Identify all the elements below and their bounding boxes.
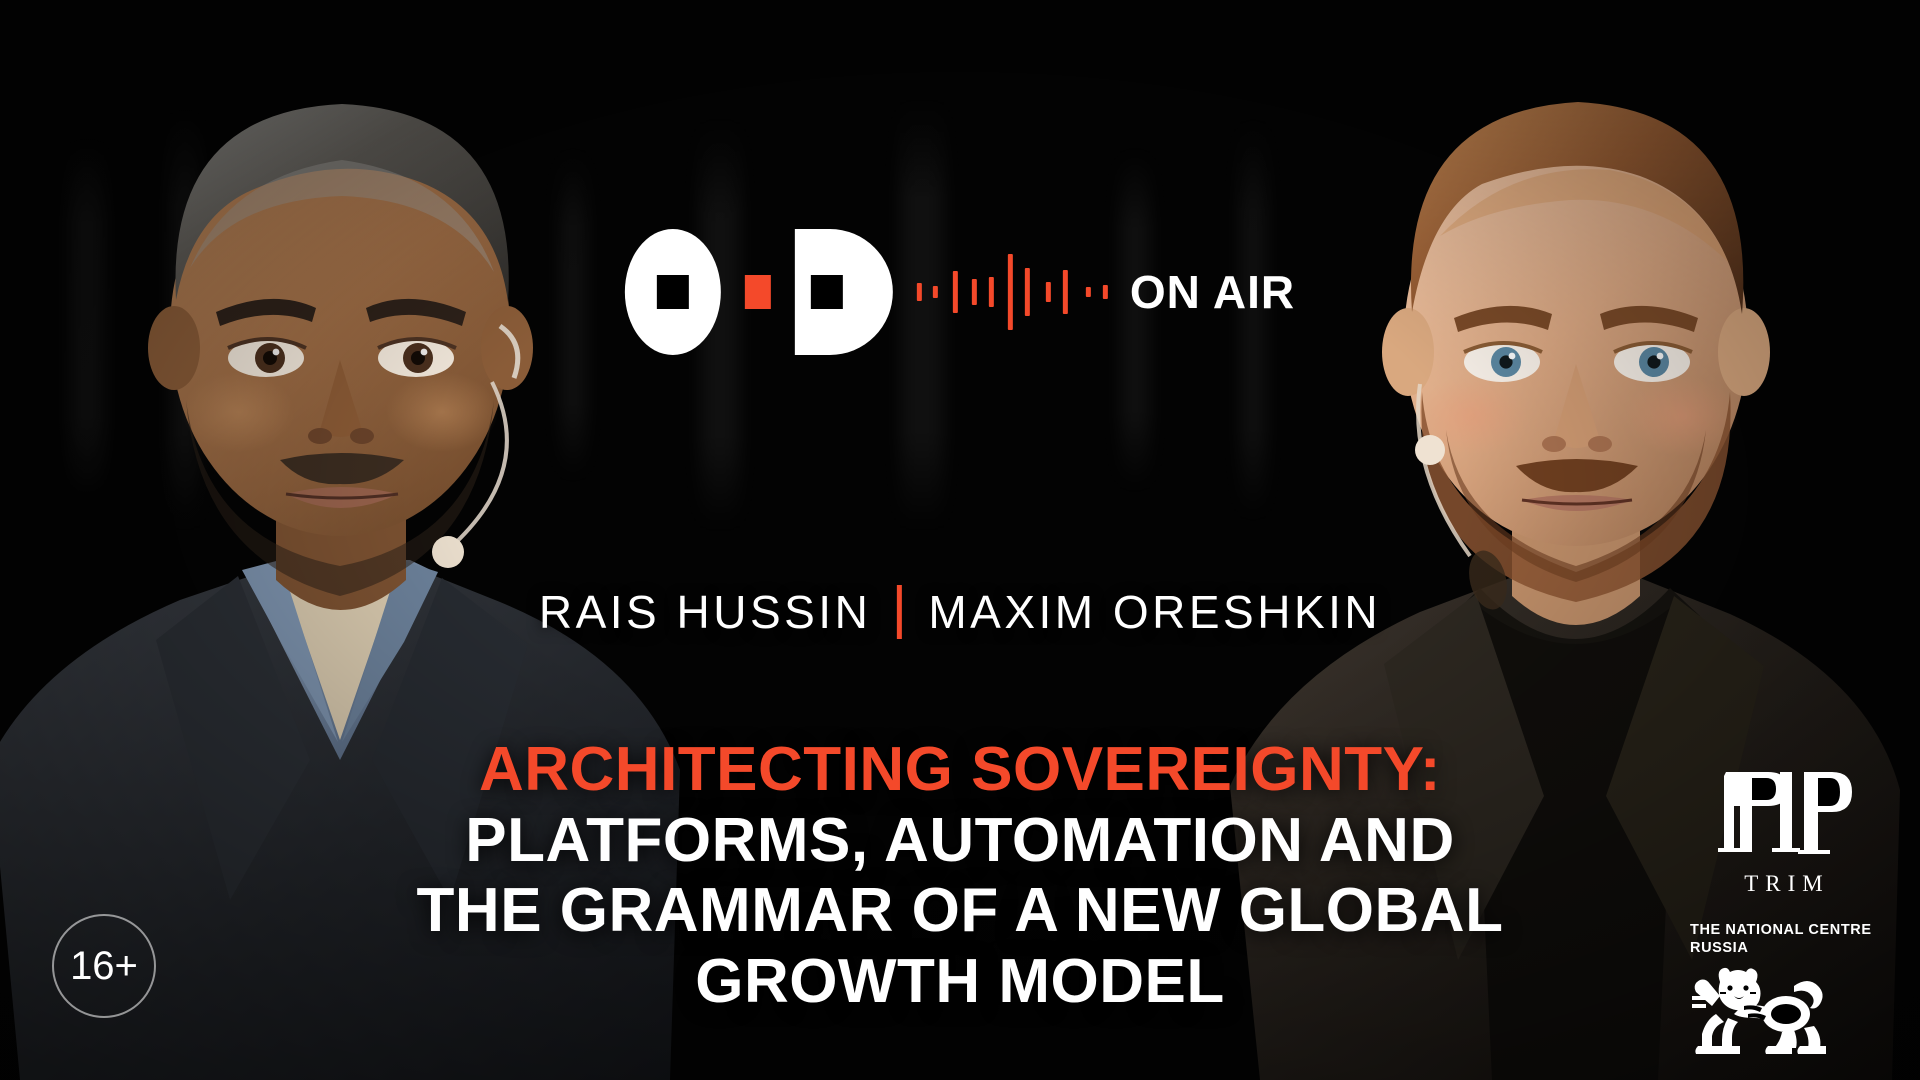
headline-line-2: PLATFORMS, AUTOMATION AND [260,806,1660,877]
logo-separator-square [745,275,771,309]
trim-monogram-icon [1712,762,1862,862]
age-rating-badge: 16+ [52,914,156,1018]
speaker-name-separator [897,585,902,639]
headline-line-1: ARCHITECTING SOVEREIGNTY: [260,735,1660,806]
logo-glyph-d-inner-square [811,275,843,309]
age-rating-label: 16+ [70,944,138,989]
audio-waveform-icon [917,229,1108,355]
on-air-logo-lockup: ON AIR [625,227,1295,357]
trim-wordmark: TRIM [1712,871,1862,897]
ncr-line-1: THE NATIONAL CENTRE [1690,922,1880,940]
headline-line-3: THE GRAMMAR OF A NEW GLOBAL [260,876,1660,947]
logo-glyph-o-inner-square [657,275,689,309]
trim-logo: TRIM [1712,762,1862,897]
speaker-name-right: MAXIM ORESHKIN [928,585,1381,639]
broadcast-title-card: ON AIR RAIS HUSSIN MAXIM ORESHKIN ARCHIT… [0,0,1920,1080]
page-title: ARCHITECTING SOVEREIGNTY: PLATFORMS, AUT… [260,735,1660,1018]
on-air-label: ON AIR [1130,269,1295,315]
national-centre-russia-logo: THE NATIONAL CENTRE RUSSIA [1690,922,1880,1063]
speaker-names: RAIS HUSSIN MAXIM ORESHKIN [539,585,1381,639]
logo-glyph-d-icon [795,229,893,355]
headline-line-4: GROWTH MODEL [260,947,1660,1018]
logo-glyph-o-icon [625,229,721,355]
speaker-name-left: RAIS HUSSIN [539,585,871,639]
lion-emblem-icon [1690,962,1850,1058]
ncr-line-2: RUSSIA [1690,940,1880,958]
